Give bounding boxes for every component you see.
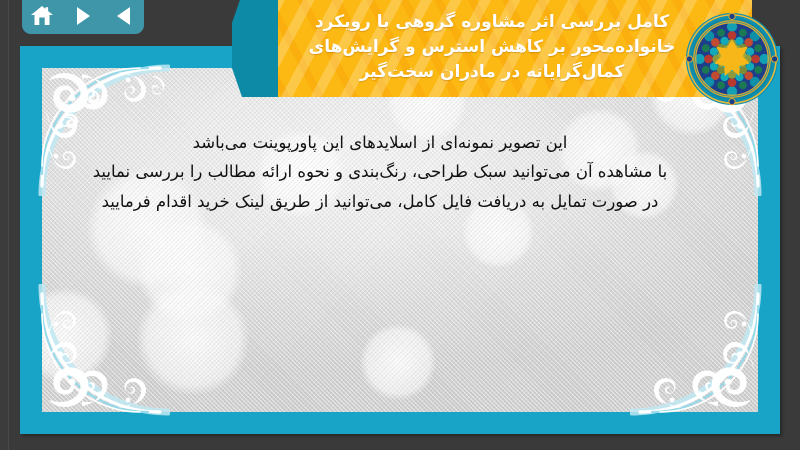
bokeh-circle xyxy=(137,283,249,395)
home-icon xyxy=(30,4,54,28)
triangle-right-icon xyxy=(73,5,93,27)
slide-frame xyxy=(20,46,780,434)
body-line: این تصویر نمونه‌ای از اسلایدهای این پاور… xyxy=(60,128,700,157)
slide-navigation-bar xyxy=(22,0,144,34)
body-line: با مشاهده آن می‌توانید سبک طراحی، رنگ‌بن… xyxy=(60,157,700,186)
banner-title-text: کامل بررسی اثر مشاوره گروهی با رویکرد خا… xyxy=(232,0,752,97)
persian-medallion-ornament xyxy=(683,10,781,108)
bokeh-circle xyxy=(137,218,242,323)
body-line: در صورت تمایل به دریافت فایل کامل، می‌تو… xyxy=(60,187,700,216)
home-button[interactable] xyxy=(27,3,57,29)
title-banner: کامل بررسی اثر مشاوره گروهی با رویکرد خا… xyxy=(232,0,752,97)
slide-body-text: این تصویر نمونه‌ای از اسلایدهای این پاور… xyxy=(60,128,700,216)
next-slide-button[interactable] xyxy=(68,3,98,29)
slide-content-panel xyxy=(42,68,758,412)
title-line: کمال‌گرایانه در مادران سخت‌گیر xyxy=(360,60,625,84)
previous-slide-button[interactable] xyxy=(109,3,139,29)
title-line: خانواده‌محور بر کاهش استرس و گرایش‌های xyxy=(309,35,676,59)
title-line: کامل بررسی اثر مشاوره گروهی با رویکرد xyxy=(315,10,669,34)
bokeh-circle xyxy=(42,288,112,383)
triangle-left-icon xyxy=(114,5,134,27)
slide-stage: این تصویر نمونه‌ای از اسلایدهای این پاور… xyxy=(0,0,800,450)
bokeh-circle xyxy=(360,324,436,400)
